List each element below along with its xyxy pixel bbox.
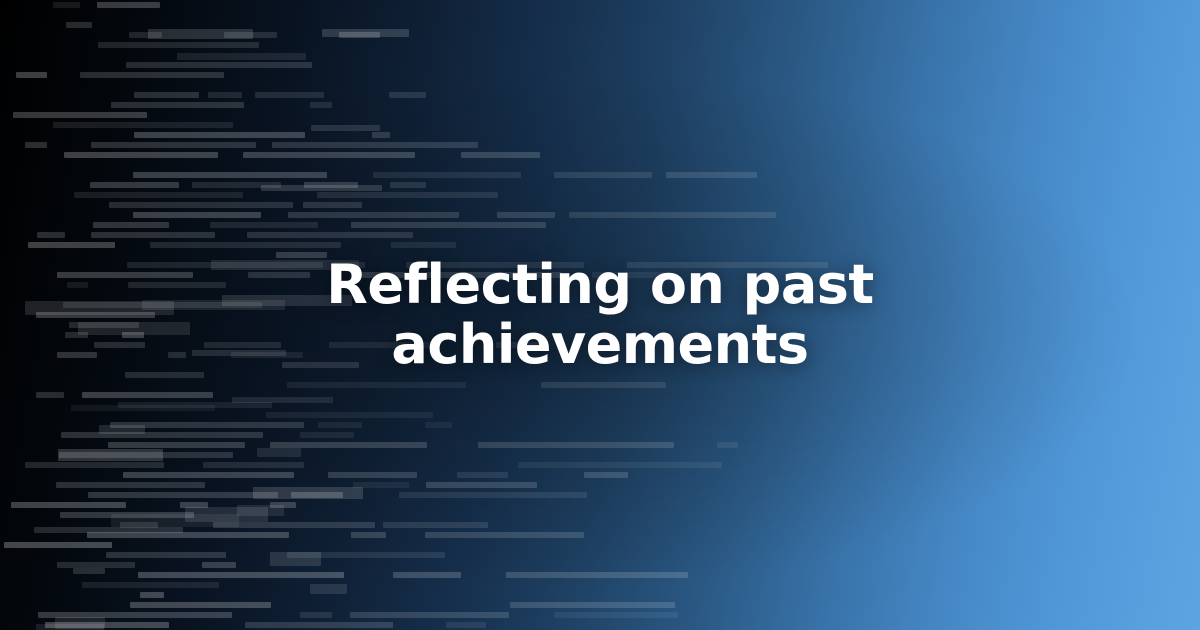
page-title: Reflecting on past achievements	[240, 255, 960, 376]
share-card: Reflecting on past achievements	[0, 0, 1200, 630]
title-container: Reflecting on past achievements	[0, 0, 1200, 630]
